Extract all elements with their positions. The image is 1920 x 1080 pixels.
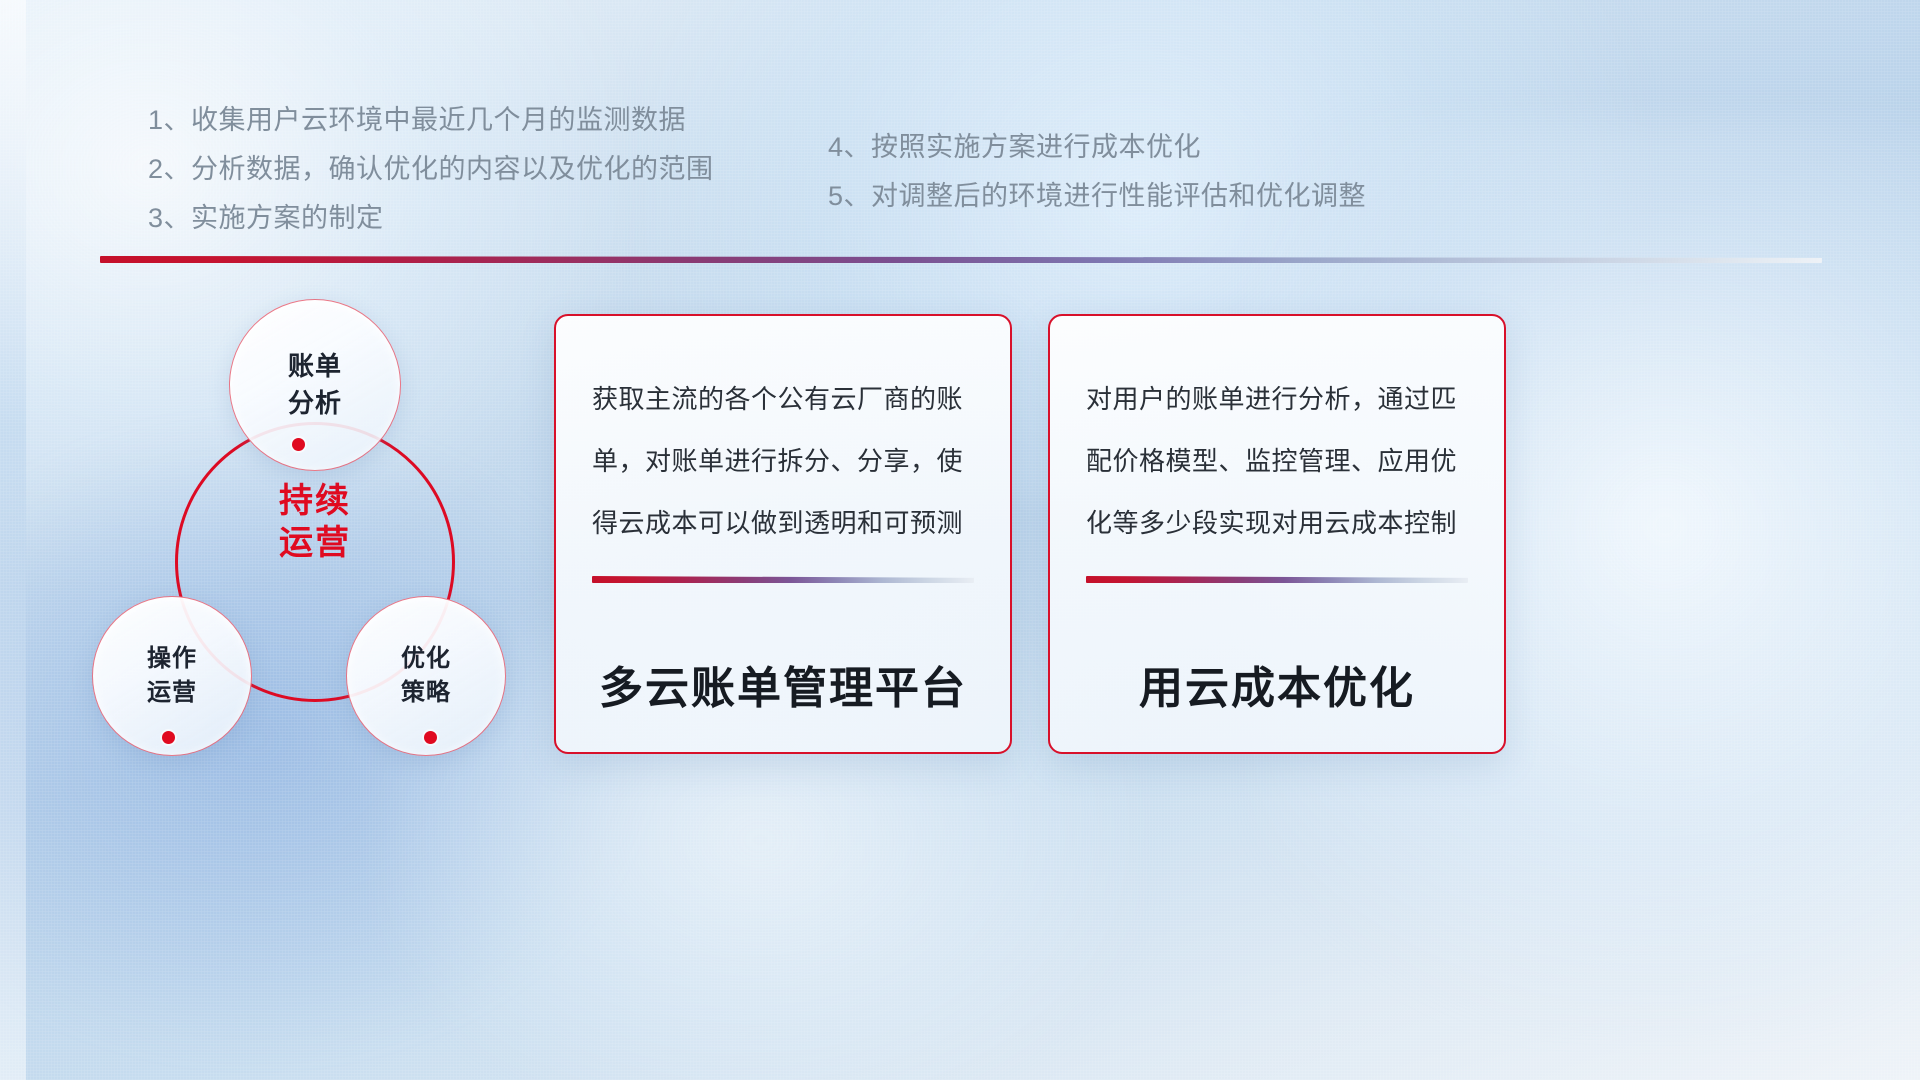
diagram-node-optimization-strategy-line-1: 优化	[401, 642, 451, 676]
diagram-center-label-line-1: 持续	[215, 480, 415, 522]
diagram-node-bill-analysis[interactable]: 账单 分析	[229, 299, 401, 471]
feature-card-2-divider	[1086, 576, 1468, 583]
feature-card-2-title: 用云成本优化	[1086, 652, 1468, 752]
diagram-node-operations-line-2: 运营	[147, 676, 197, 710]
diagram-center-label: 持续 运营	[215, 480, 415, 564]
steps-list-left: 1、收集用户云环境中最近几个月的监测数据 2、分析数据，确认优化的内容以及优化的…	[148, 96, 808, 243]
feature-card-1-title: 多云账单管理平台	[592, 652, 974, 752]
diagram-connector-dot-top	[292, 438, 305, 451]
diagram-node-bill-analysis-line-2: 分析	[288, 385, 342, 422]
step-item-3: 3、实施方案的制定	[148, 194, 808, 243]
step-item-2: 2、分析数据，确认优化的内容以及优化的范围	[148, 145, 808, 194]
feature-card-2-body: 对用户的账单进行分析，通过匹配价格模型、监控管理、应用优化等多少段实现对用云成本…	[1086, 368, 1468, 554]
diagram-connector-dot-bottom-right	[424, 731, 437, 744]
cycle-diagram: 持续 运营 账单 分析 操作 运营 优化 策略	[85, 288, 555, 778]
step-item-1: 1、收集用户云环境中最近几个月的监测数据	[148, 96, 808, 145]
diagram-node-optimization-strategy-line-2: 策略	[401, 676, 451, 710]
step-item-4: 4、按照实施方案进行成本优化	[828, 123, 1518, 172]
feature-card-1-body: 获取主流的各个公有云厂商的账单，对账单进行拆分、分享，使得云成本可以做到透明和可…	[592, 368, 974, 554]
background-left-sheen	[0, 0, 26, 1080]
step-item-5: 5、对调整后的环境进行性能评估和优化调整	[828, 172, 1518, 221]
slide-canvas: 1、收集用户云环境中最近几个月的监测数据 2、分析数据，确认优化的内容以及优化的…	[0, 0, 1920, 1080]
feature-card-multi-cloud-bill-platform[interactable]: 获取主流的各个公有云厂商的账单，对账单进行拆分、分享，使得云成本可以做到透明和可…	[554, 314, 1012, 754]
diagram-node-operations-line-1: 操作	[147, 642, 197, 676]
diagram-node-bill-analysis-line-1: 账单	[288, 348, 342, 385]
feature-card-cloud-cost-optimization[interactable]: 对用户的账单进行分析，通过匹配价格模型、监控管理、应用优化等多少段实现对用云成本…	[1048, 314, 1506, 754]
diagram-connector-dot-bottom-left	[162, 731, 175, 744]
steps-list-right: 4、按照实施方案进行成本优化 5、对调整后的环境进行性能评估和优化调整	[828, 123, 1518, 221]
feature-card-1-divider	[592, 576, 974, 583]
diagram-center-label-line-2: 运营	[215, 522, 415, 564]
